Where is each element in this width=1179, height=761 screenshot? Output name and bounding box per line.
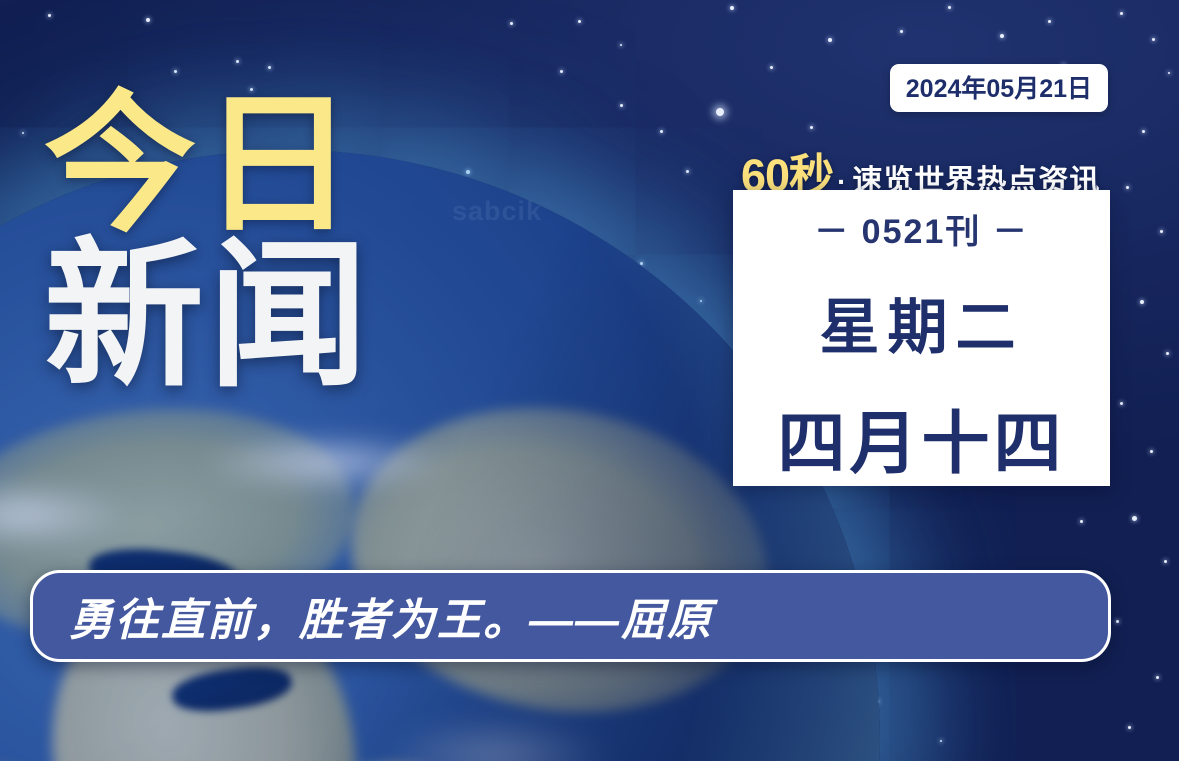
poster-title: 今日 新闻 <box>44 96 372 392</box>
quote-bar: 勇往直前，胜者为王。——屈原 <box>30 570 1111 662</box>
issue-number: － 0521刊 － <box>814 204 1029 253</box>
date-info-card: － 0521刊 － 星期二 四月十四 <box>733 190 1110 486</box>
watermark-text: sabcik <box>452 196 542 227</box>
title-line-jinri: 今日 <box>44 96 372 234</box>
lunar-date-label: 四月十四 <box>777 388 1065 487</box>
date-badge: 2024年05月21日 <box>890 64 1108 112</box>
title-line-xinwen: 新闻 <box>44 240 372 392</box>
weekday-label: 星期二 <box>820 279 1024 366</box>
news-poster: sabcik 今日 新闻 2024年05月21日 60秒 · 速览世界热点资讯 … <box>0 0 1179 761</box>
quote-text: 勇往直前，胜者为王。——屈原 <box>69 584 713 648</box>
